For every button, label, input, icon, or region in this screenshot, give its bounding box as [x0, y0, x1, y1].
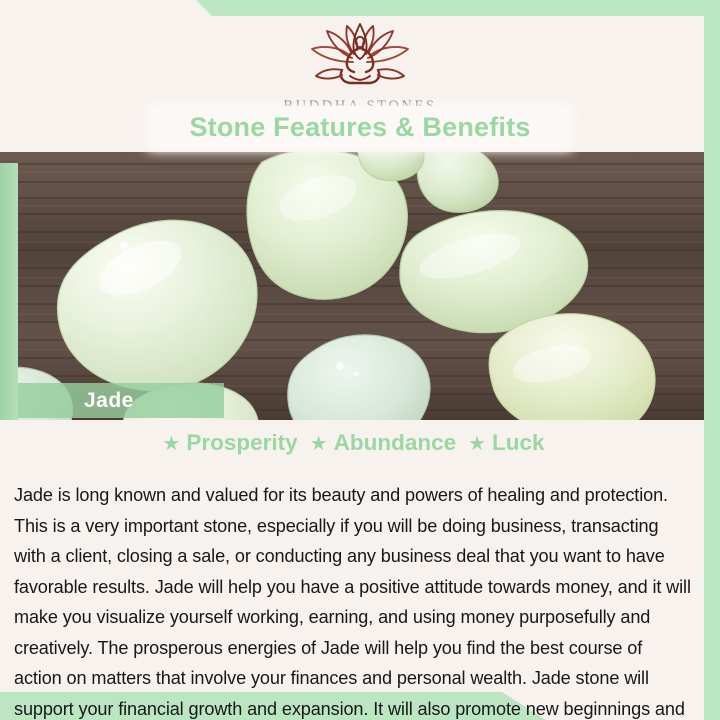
stone-info-poster: BUDDHA STONES: [0, 0, 720, 720]
keyword-abundance: Abundance: [334, 430, 457, 456]
title-banner: Stone Features & Benefits: [150, 106, 570, 148]
keyword-row: ★Prosperity★Abundance★Luck: [0, 430, 707, 456]
brand-logo: BUDDHA STONES: [0, 18, 720, 115]
page-title: Stone Features & Benefits: [189, 112, 530, 143]
keyword-luck: Luck: [492, 430, 545, 456]
stone-name-banner: Jade: [18, 383, 224, 418]
keyword-prosperity: Prosperity: [186, 430, 297, 456]
star-icon: ★: [162, 431, 180, 456]
right-accent-band: [704, 0, 720, 720]
stone-name-label: Jade: [84, 389, 134, 413]
star-icon: ★: [468, 431, 486, 456]
lotus-meditation-figure-icon: [0, 18, 720, 95]
stone-photo: [0, 152, 707, 420]
star-icon: ★: [310, 431, 328, 456]
stone-description: Jade is long known and valued for its be…: [14, 480, 694, 720]
photo-left-accent-strip: [0, 163, 18, 420]
